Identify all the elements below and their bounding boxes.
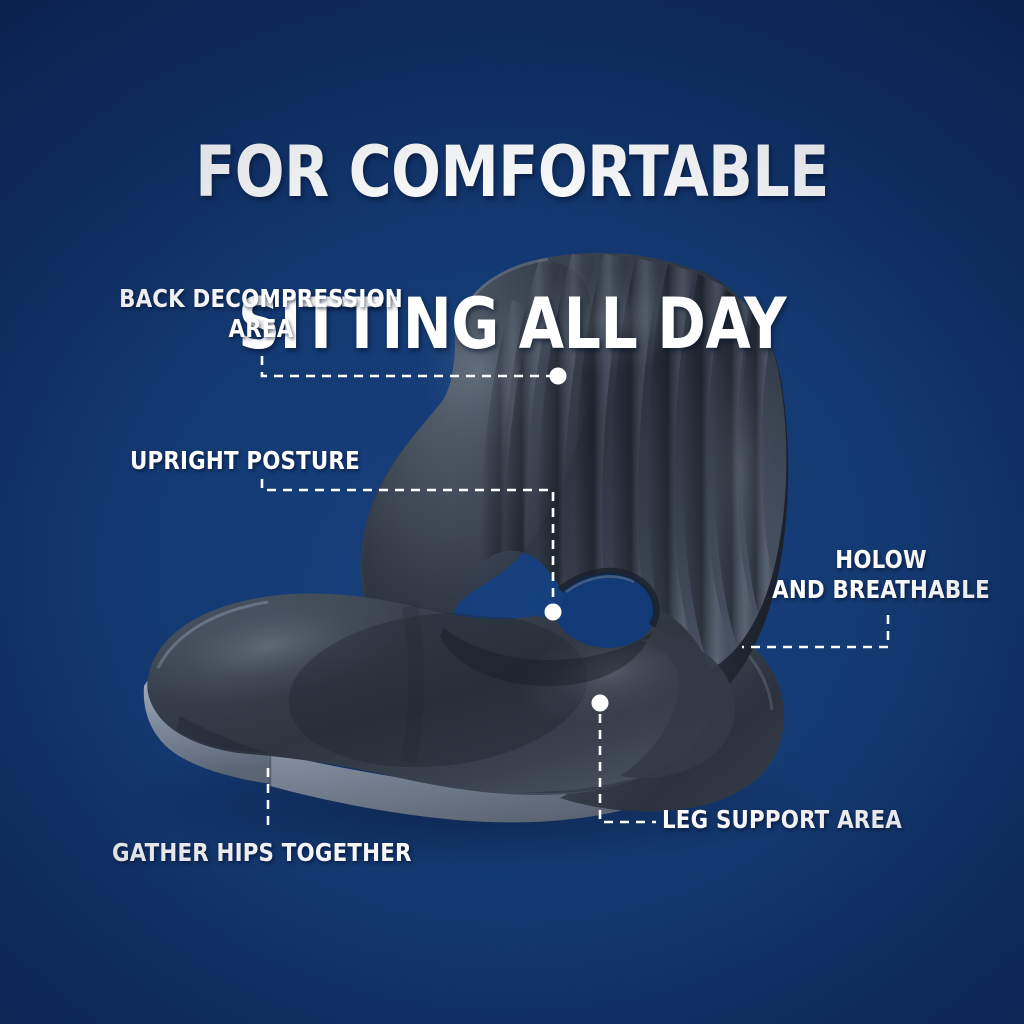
infographic-canvas: FOR COMFORTABLE SITTING ALL DAY BACK DEC…	[0, 0, 1024, 1024]
page-title: FOR COMFORTABLE SITTING ALL DAY	[36, 58, 988, 438]
seat-center-crease	[408, 606, 417, 762]
callout-label-upright-posture: UPRIGHT POSTURE	[130, 446, 415, 476]
callout-label-hollow-breathable: HOLOW AND BREATHABLE	[751, 545, 1011, 605]
headline-line-1: FOR COMFORTABLE	[36, 134, 988, 210]
callout-label-gather-hips: GATHER HIPS TOGETHER	[112, 838, 454, 868]
callout-label-leg-support: LEG SUPPORT AREA	[662, 805, 947, 835]
callout-label-back-decompression: BACK DECOMPRESSION AREA	[95, 284, 428, 344]
